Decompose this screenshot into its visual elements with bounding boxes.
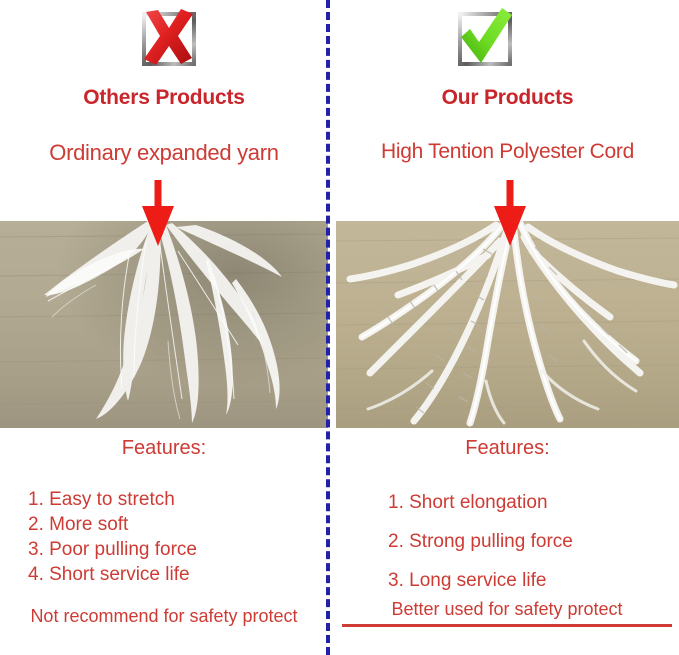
ordinary-expanded-yarn-photo	[0, 221, 328, 428]
subtitle-ours: High Tention Polyester Cord	[336, 140, 679, 164]
vertical-dashed-divider	[326, 0, 330, 655]
product-comparison-infographic: Others Products Ordinary expanded yarn	[0, 0, 679, 655]
page-title-ours: Our Products	[336, 86, 679, 110]
red-x-icon	[136, 6, 200, 70]
high-tension-polyester-cord-photo	[336, 221, 679, 428]
page-title-others: Others Products	[0, 86, 328, 110]
down-arrow-icon	[137, 180, 179, 246]
subtitle-others: Ordinary expanded yarn	[0, 140, 328, 166]
down-arrow-icon	[489, 180, 531, 246]
red-x-badge	[136, 6, 200, 70]
green-check-icon	[452, 6, 516, 70]
green-check-badge	[452, 6, 516, 70]
